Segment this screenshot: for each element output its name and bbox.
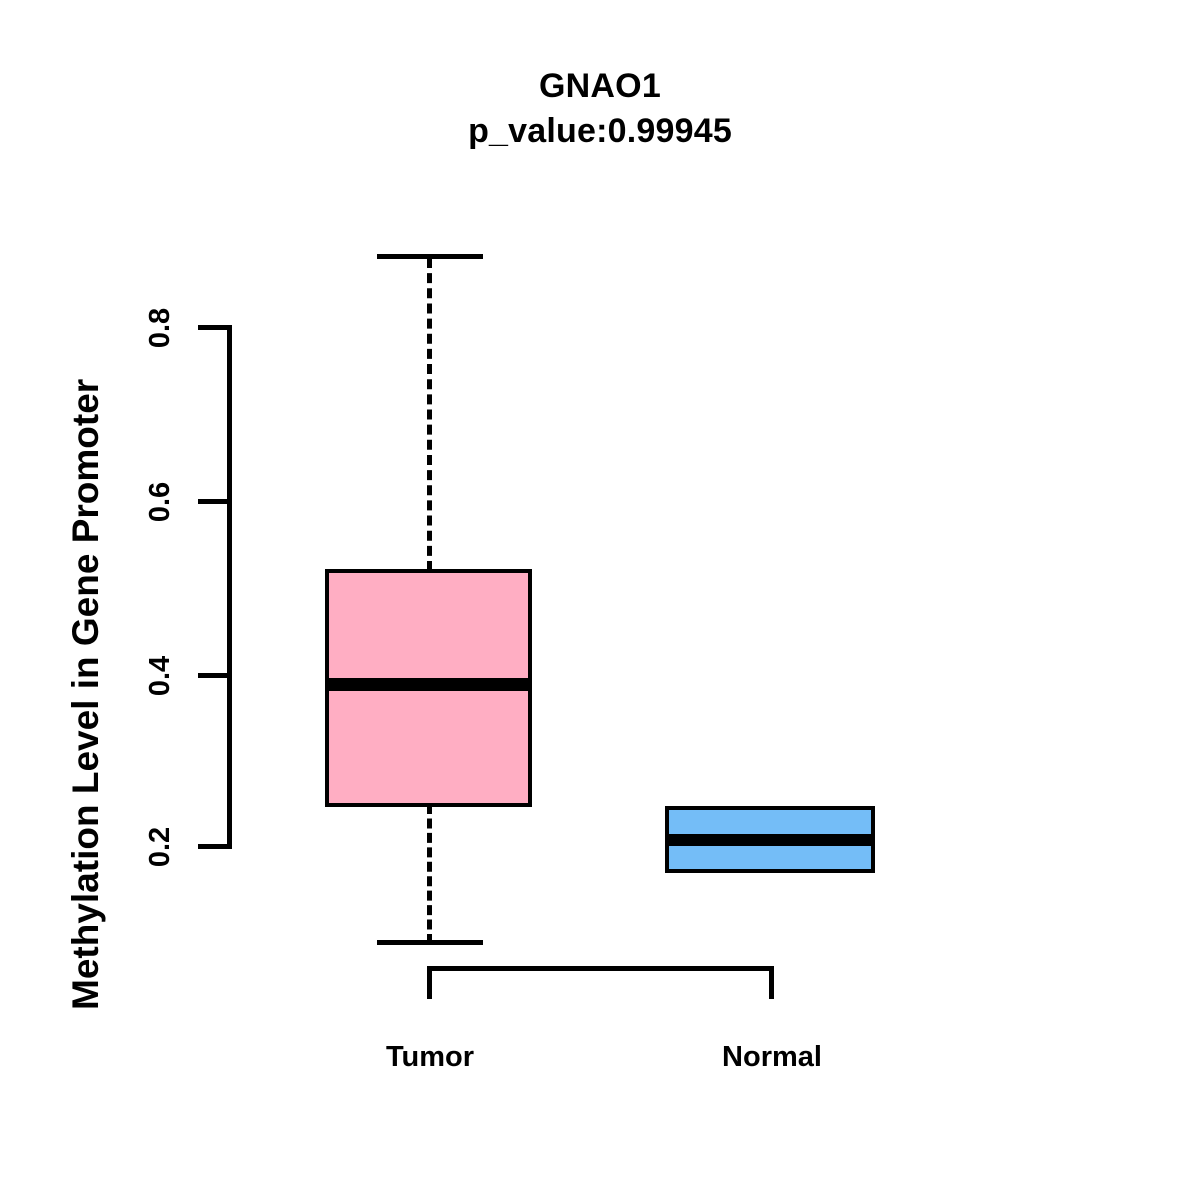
tumor-upper-whisker-cap [377,254,483,259]
x-tick-label-normal: Normal [652,1041,892,1074]
tumor-lower-whisker-cap [377,940,483,945]
y-axis-line [227,325,232,849]
x-axis-line [427,966,774,971]
plot-title: GNAO1 p_value:0.99945 [0,64,1200,154]
gene-name: GNAO1 [539,67,661,105]
x-axis-tick-normal [769,966,774,999]
y-axis-tick-0.6 [198,499,228,504]
x-axis-tick-tumor [427,966,432,999]
y-axis-tick-0.4 [198,673,228,678]
y-axis-label: Methylation Level in Gene Promoter [54,0,118,1010]
x-tick-label-tumor: Tumor [310,1041,550,1074]
y-axis-tick-0.2 [198,844,228,849]
y-tick-label-0.8: 0.8 [144,293,176,363]
tumor-lower-whisker [427,804,432,944]
y-tick-label-0.4: 0.4 [144,641,176,711]
boxplot-figure: GNAO1 p_value:0.99945 Methylation Level … [0,0,1200,1200]
y-tick-label-0.2: 0.2 [144,812,176,882]
y-axis-tick-0.8 [198,325,228,330]
y-tick-label-0.6: 0.6 [144,467,176,537]
tumor-upper-whisker [427,258,432,571]
tumor-median-line [325,678,532,691]
normal-median-line [665,834,875,846]
p-value-subtitle: p_value:0.99945 [0,109,1200,154]
